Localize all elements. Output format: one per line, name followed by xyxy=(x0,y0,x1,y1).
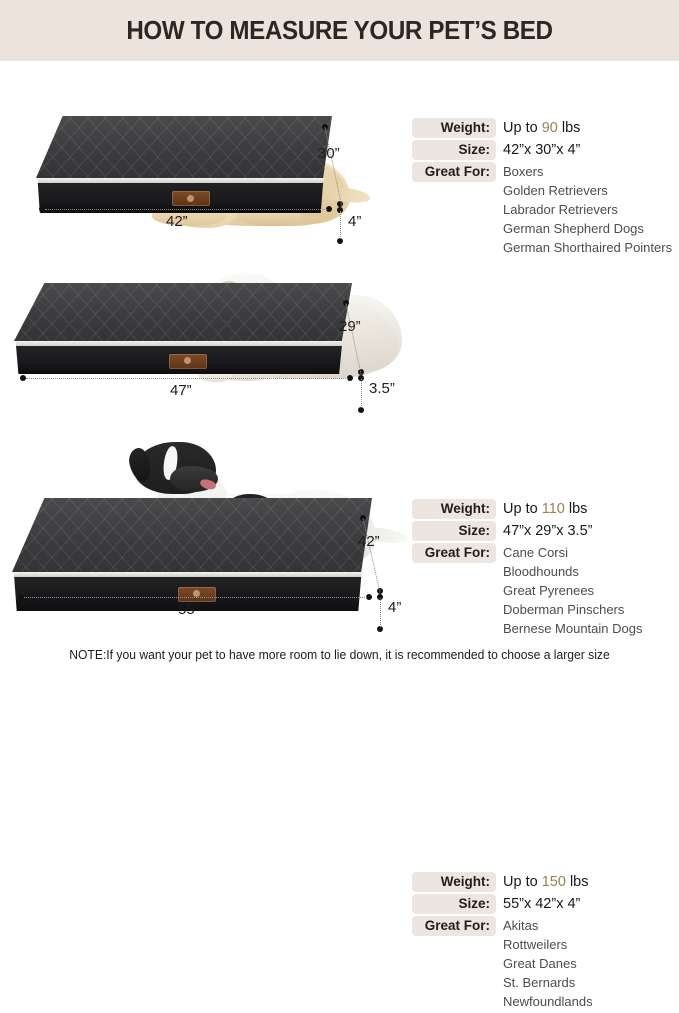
spec-row-size-3: Size: 55”x 42”x 4” xyxy=(412,894,593,914)
bed-illustration-2 xyxy=(14,283,352,374)
breed-item: Labrador Retrievers xyxy=(503,200,672,219)
dim-label-height-1: 4” xyxy=(348,213,361,230)
spec-panel-3: Weight: Up to 150 lbs Size: 55”x 42”x 4”… xyxy=(412,872,593,1013)
product-section-3: 42” 4” 55” Weight: Up to 150 lbs Size: 5… xyxy=(0,430,679,640)
spec-value-size-3: 55”x 42”x 4” xyxy=(503,894,580,914)
dim-label-depth-3: 42” xyxy=(358,533,380,550)
dim-line-height-3 xyxy=(380,598,381,627)
bed-piping xyxy=(12,572,372,577)
bed-quilted-top xyxy=(14,283,352,341)
weight-number-1: 90 xyxy=(542,120,558,136)
dim-line-height-2 xyxy=(361,379,362,408)
pet-bed-3 xyxy=(12,498,372,611)
breed-item: German Shepherd Dogs xyxy=(503,219,672,238)
pet-bed-2 xyxy=(14,283,352,374)
breed-item: Boxers xyxy=(503,162,672,181)
dim-label-height-2: 3.5” xyxy=(369,380,395,397)
dim-line-width-1 xyxy=(45,209,327,210)
breed-item: Golden Retrievers xyxy=(503,181,672,200)
dim-label-depth-2: 29” xyxy=(339,318,361,335)
bed-piping xyxy=(36,178,332,183)
spec-label-weight-1: Weight: xyxy=(412,118,496,138)
spec-label-size-1: Size: xyxy=(412,140,496,160)
dim-label-width-2: 47” xyxy=(170,382,192,399)
brand-tag-icon xyxy=(169,354,207,369)
product-section-2: 29” 3.5” 47” Weight: Up to 110 lbs Size:… xyxy=(0,247,679,422)
spec-label-great-for-1: Great For: xyxy=(412,162,496,182)
brand-tag-icon xyxy=(178,587,216,602)
footer-note: NOTE:If you want your pet to have more r… xyxy=(10,648,669,662)
dim-line-width-2 xyxy=(26,378,348,379)
page-title: HOW TO MEASURE YOUR PET’S BED xyxy=(24,0,655,61)
dim-label-height-3: 4” xyxy=(388,599,401,616)
spec-row-weight-1: Weight: Up to 90 lbs xyxy=(412,118,672,138)
spec-label-great-for-3: Great For: xyxy=(412,916,496,936)
spec-row-weight-3: Weight: Up to 150 lbs xyxy=(412,872,593,892)
dim-label-width-3: 55” xyxy=(178,601,200,618)
spec-row-great-for-1: Great For: Boxers Golden Retrievers Labr… xyxy=(412,162,672,257)
product-section-1: 30” 4” 42” Weight: Up to 90 lbs Size: 42… xyxy=(0,61,679,233)
spec-value-weight-1: Up to 90 lbs xyxy=(503,118,580,138)
spec-row-great-for-3: Great For: Akitas Rottweilers Great Dane… xyxy=(412,916,593,1011)
spec-panel-1: Weight: Up to 90 lbs Size: 42”x 30”x 4” … xyxy=(412,118,672,259)
dim-line-height-1 xyxy=(340,211,341,239)
bed-piping xyxy=(14,341,352,346)
spec-label-size-3: Size: xyxy=(412,894,496,914)
spec-value-weight-3: Up to 150 lbs xyxy=(503,872,588,892)
breed-item: Rottweilers xyxy=(503,935,593,954)
brand-tag-icon xyxy=(172,191,210,206)
bed-quilted-top xyxy=(12,498,372,572)
pet-bed-1 xyxy=(36,116,332,213)
dim-label-depth-1: 30” xyxy=(318,145,340,162)
bed-side-panel xyxy=(14,346,352,374)
bed-illustration-3 xyxy=(12,498,372,611)
spec-row-size-1: Size: 42”x 30”x 4” xyxy=(412,140,672,160)
breed-item: Akitas xyxy=(503,916,593,935)
breed-item: Great Danes xyxy=(503,954,593,973)
dim-line-width-3 xyxy=(24,597,367,598)
spec-value-size-1: 42”x 30”x 4” xyxy=(503,140,580,160)
bed-illustration-1 xyxy=(36,116,332,213)
bed-quilted-top xyxy=(36,116,332,178)
breed-item: St. Bernards xyxy=(503,973,593,992)
weight-suffix-3: lbs xyxy=(570,874,589,890)
weight-number-3: 150 xyxy=(542,874,566,890)
breed-item: Newfoundlands xyxy=(503,992,593,1011)
breed-list-1: Boxers Golden Retrievers Labrador Retrie… xyxy=(503,162,672,257)
spec-label-weight-3: Weight: xyxy=(412,872,496,892)
breed-list-3: Akitas Rottweilers Great Danes St. Berna… xyxy=(503,916,593,1011)
weight-prefix-1: Up to xyxy=(503,120,538,136)
weight-suffix-1: lbs xyxy=(562,120,581,136)
weight-prefix-3: Up to xyxy=(503,874,538,890)
dim-label-width-1: 42” xyxy=(166,213,188,230)
